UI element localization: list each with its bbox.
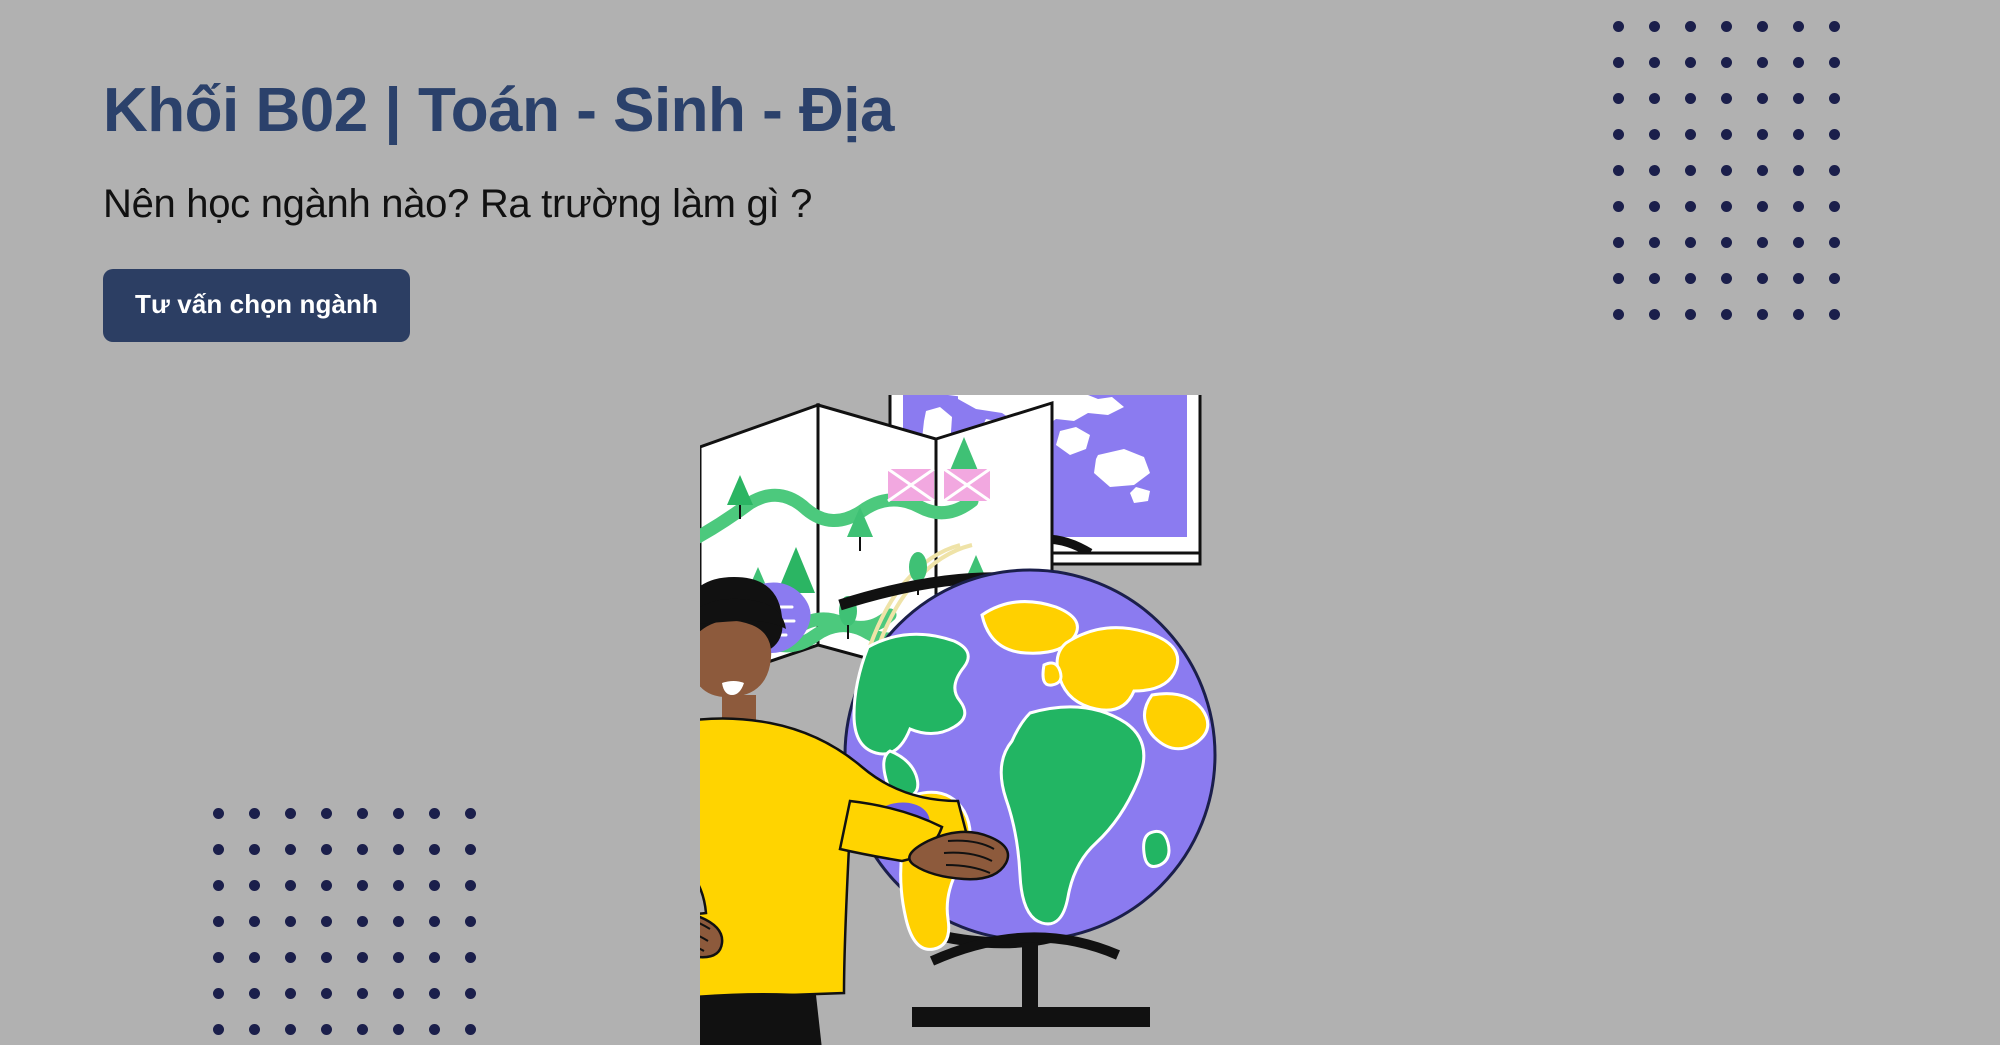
dot (357, 880, 368, 891)
dot (1649, 21, 1660, 32)
dot (357, 808, 368, 819)
dot (1685, 57, 1696, 68)
dot (1721, 57, 1732, 68)
dot (1685, 93, 1696, 104)
dot (285, 952, 296, 963)
dot (1613, 93, 1624, 104)
dot (1685, 165, 1696, 176)
dot (465, 988, 476, 999)
dot (1757, 57, 1768, 68)
dot (429, 952, 440, 963)
dot (465, 916, 476, 927)
dot (249, 844, 260, 855)
dot (465, 844, 476, 855)
dot (393, 808, 404, 819)
dot (429, 880, 440, 891)
dot (393, 1024, 404, 1035)
dot (465, 1024, 476, 1035)
dot (1613, 21, 1624, 32)
dot (1793, 273, 1804, 284)
dot (1613, 237, 1624, 248)
dot (429, 916, 440, 927)
dot (249, 1024, 260, 1035)
dot (1793, 165, 1804, 176)
dot (1757, 129, 1768, 140)
dot (285, 880, 296, 891)
dot (393, 952, 404, 963)
dot (357, 916, 368, 927)
dot (465, 880, 476, 891)
dot-grid-bottom-left (200, 795, 488, 1045)
dot (1793, 129, 1804, 140)
dot (1685, 309, 1696, 320)
consult-major-button[interactable]: Tư vấn chọn ngành (103, 269, 410, 342)
dot (1685, 21, 1696, 32)
dot (393, 880, 404, 891)
dot (285, 988, 296, 999)
dot (1793, 201, 1804, 212)
dot (357, 1024, 368, 1035)
dot (321, 844, 332, 855)
dot (213, 844, 224, 855)
dot (1829, 129, 1840, 140)
dot (321, 988, 332, 999)
dot (1757, 93, 1768, 104)
dot (1649, 93, 1660, 104)
dot (1613, 129, 1624, 140)
dot (1649, 237, 1660, 248)
dot (1685, 129, 1696, 140)
dot (1757, 237, 1768, 248)
dot (321, 1024, 332, 1035)
dot (1829, 165, 1840, 176)
dot (1721, 21, 1732, 32)
hero-banner: Khối B02 | Toán - Sinh - Địa Nên học ngà… (0, 0, 2000, 1045)
dot (213, 952, 224, 963)
dot (285, 916, 296, 927)
dot (1649, 273, 1660, 284)
dot (1721, 129, 1732, 140)
dot (429, 844, 440, 855)
dot (429, 988, 440, 999)
dot (1721, 201, 1732, 212)
dot (357, 988, 368, 999)
dot (465, 808, 476, 819)
dot (1829, 273, 1840, 284)
dot (321, 808, 332, 819)
dot (1721, 237, 1732, 248)
dot (1649, 165, 1660, 176)
dot (429, 808, 440, 819)
dot (1829, 201, 1840, 212)
dot (1757, 201, 1768, 212)
dot (1613, 165, 1624, 176)
dot (393, 916, 404, 927)
dot (429, 1024, 440, 1035)
dot (249, 952, 260, 963)
dot (1793, 57, 1804, 68)
dot (393, 844, 404, 855)
dot (1721, 165, 1732, 176)
dot (1721, 273, 1732, 284)
dot (465, 952, 476, 963)
dot-grid-top-right (1600, 8, 1852, 332)
dot (357, 952, 368, 963)
dot (213, 808, 224, 819)
dot (213, 880, 224, 891)
dot (285, 844, 296, 855)
dot (213, 988, 224, 999)
dot (1793, 93, 1804, 104)
dot (393, 988, 404, 999)
dot (1685, 201, 1696, 212)
dot (1829, 237, 1840, 248)
dot (1649, 129, 1660, 140)
dot (249, 808, 260, 819)
dot (249, 988, 260, 999)
dot (249, 880, 260, 891)
dot (1793, 309, 1804, 320)
hero-illustration (700, 395, 1420, 1045)
dot (285, 808, 296, 819)
dot (321, 952, 332, 963)
dot (1829, 57, 1840, 68)
dot (321, 880, 332, 891)
dot (1613, 57, 1624, 68)
dot (1613, 201, 1624, 212)
dot (1685, 237, 1696, 248)
dot (1649, 201, 1660, 212)
dot (1685, 273, 1696, 284)
dot (213, 916, 224, 927)
dot (285, 1024, 296, 1035)
page-title: Khối B02 | Toán - Sinh - Địa (103, 78, 1253, 145)
dot (1613, 273, 1624, 284)
dot (249, 916, 260, 927)
dot (321, 916, 332, 927)
page-subtitle: Nên học ngành nào? Ra trường làm gì ? (103, 181, 1253, 227)
dot (1757, 273, 1768, 284)
dot (1793, 237, 1804, 248)
dot (1757, 309, 1768, 320)
dot (1757, 21, 1768, 32)
dot (1757, 165, 1768, 176)
dot (1649, 309, 1660, 320)
hero-text-block: Khối B02 | Toán - Sinh - Địa Nên học ngà… (103, 78, 1253, 342)
dot (1829, 93, 1840, 104)
dot (1649, 57, 1660, 68)
dot (1793, 21, 1804, 32)
dot (213, 1024, 224, 1035)
dot (1829, 21, 1840, 32)
dot (1829, 309, 1840, 320)
dot (1613, 309, 1624, 320)
dot (1721, 309, 1732, 320)
dot (1721, 93, 1732, 104)
dot (357, 844, 368, 855)
